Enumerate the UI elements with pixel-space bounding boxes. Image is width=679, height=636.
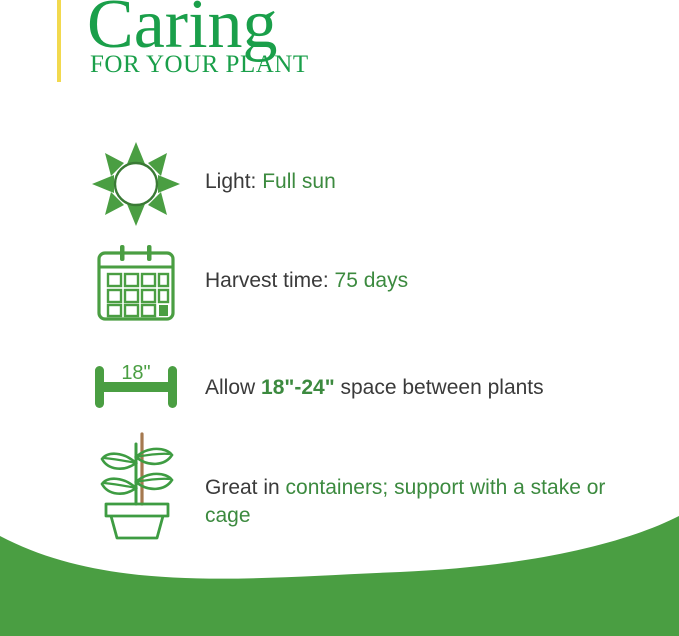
- page-title: Caring: [87, 0, 309, 58]
- care-row-spacing-text: Allow 18"-24" space between plants: [205, 374, 645, 402]
- light-label: Light:: [205, 170, 262, 193]
- care-row-spacing: 18" Allow 18"-24" space between plants: [0, 362, 679, 414]
- care-row-harvest: Harvest time: 75 days: [0, 243, 679, 325]
- title-block: Caring FOR YOUR PLANT: [87, 0, 309, 78]
- container-label: Great in: [205, 476, 286, 499]
- spacing-icon-label: 18": [121, 362, 150, 384]
- page-subtitle: FOR YOUR PLANT: [90, 52, 309, 78]
- harvest-value: 75 days: [335, 269, 409, 292]
- care-row-light: Light: Full sun: [0, 136, 679, 232]
- spacing-value: 18"-24": [261, 376, 335, 399]
- spacing-label: Allow: [205, 376, 261, 399]
- caring-for-your-plant-card: Caring FOR YOUR PLANT: [0, 0, 679, 636]
- care-row-harvest-text: Harvest time: 75 days: [205, 267, 645, 295]
- accent-bar: [57, 0, 61, 82]
- calendar-icon: [86, 243, 186, 325]
- header: Caring FOR YOUR PLANT: [57, 0, 477, 92]
- sun-icon: [86, 136, 186, 232]
- spacing-suffix: space between plants: [335, 376, 544, 399]
- spacing-icon: 18": [86, 362, 186, 414]
- care-row-light-text: Light: Full sun: [205, 168, 645, 196]
- bottom-wave-decoration: [0, 506, 679, 636]
- harvest-label: Harvest time:: [205, 269, 335, 292]
- light-value: Full sun: [262, 170, 336, 193]
